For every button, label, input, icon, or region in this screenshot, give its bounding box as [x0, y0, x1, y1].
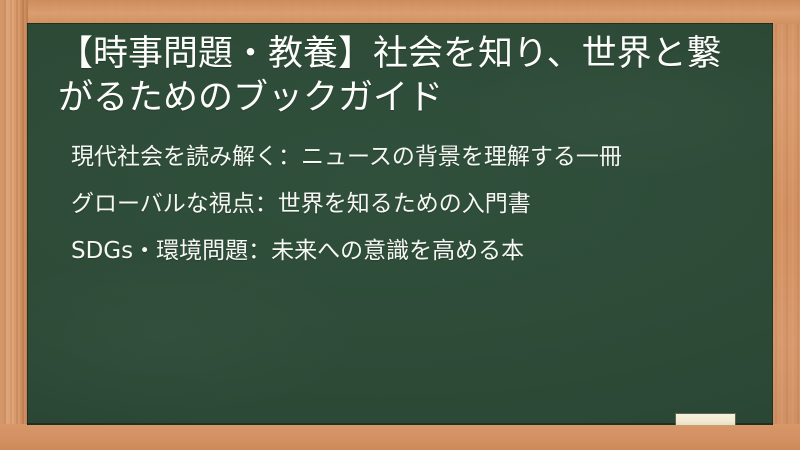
- chalk-eraser-icon: [676, 414, 735, 425]
- list-item: グローバルな視点：世界を知るための入門書: [71, 189, 743, 220]
- slide-title: 【時事問題・教養】社会を知り、世界と繋がるためのブックガイド: [58, 32, 750, 120]
- blackboard-slide: 【時事問題・教養】社会を知り、世界と繋がるためのブックガイド 現代社会を読み解く…: [0, 0, 800, 450]
- frame-left-rail: [0, 0, 28, 450]
- chalkboard: 【時事問題・教養】社会を知り、世界と繋がるためのブックガイド 現代社会を読み解く…: [27, 23, 773, 425]
- list-item: SDGs・環境問題：未来への意識を高める本: [71, 236, 743, 267]
- frame-bottom-rail-chalk-tray: [0, 424, 800, 450]
- list-item: 現代社会を読み解く：ニュースの背景を理解する一冊: [71, 142, 743, 173]
- board-content: 【時事問題・教養】社会を知り、世界と繋がるためのブックガイド 現代社会を読み解く…: [27, 23, 773, 425]
- frame-top-rail: [0, 0, 800, 24]
- book-topic-list: 現代社会を読み解く：ニュースの背景を理解する一冊 グローバルな視点：世界を知るた…: [58, 142, 753, 267]
- frame-right-rail: [772, 0, 800, 450]
